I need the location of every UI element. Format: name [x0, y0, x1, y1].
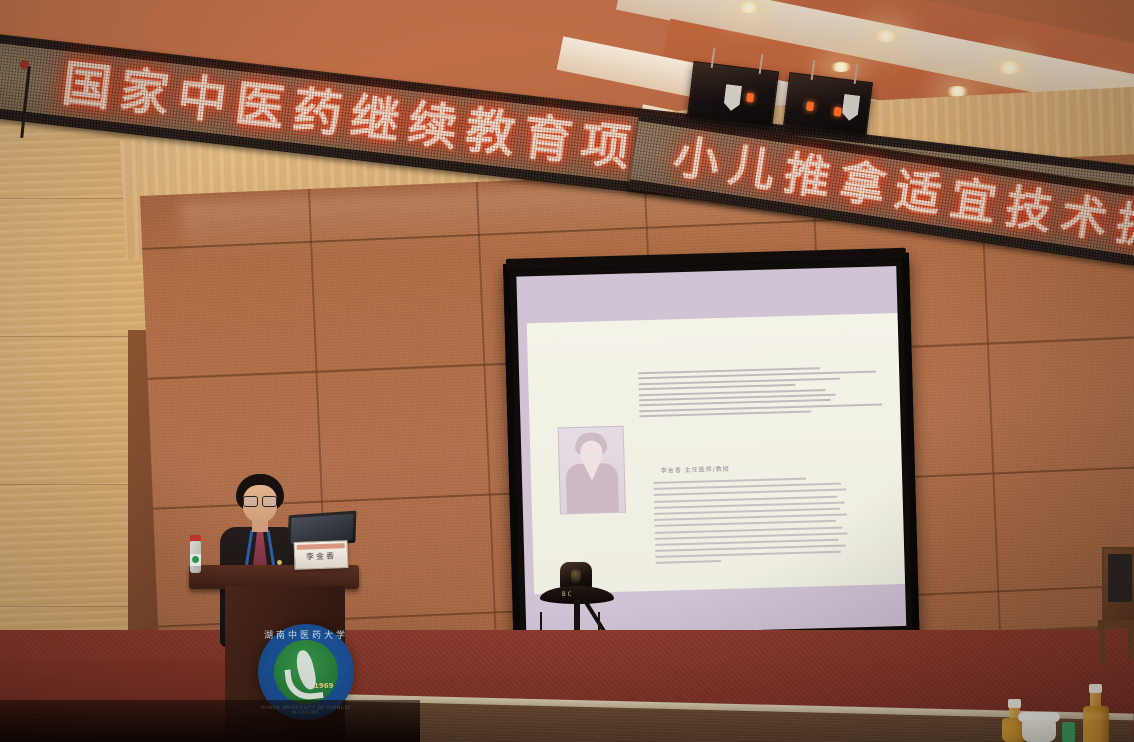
slide-portrait-photo — [558, 426, 626, 515]
name-card-accent — [297, 543, 345, 550]
pa-indicator-led — [834, 107, 842, 117]
emblem-year: 1969 — [314, 682, 333, 690]
pa-hanging-label — [841, 94, 860, 122]
foreground-green-item — [1062, 722, 1075, 742]
camera-brand-label: BC — [562, 591, 573, 598]
foreground-bottle — [1083, 706, 1109, 742]
pa-speaker-left — [687, 61, 779, 127]
bottle-cap — [1008, 699, 1021, 708]
ceiling-downlight — [996, 61, 1023, 74]
bottle-cap — [1089, 684, 1102, 693]
ceiling-downlight — [830, 62, 852, 72]
chair-backrest — [1102, 547, 1134, 627]
name-card-text: 李金香 — [295, 550, 347, 563]
ceiling-downlight — [873, 30, 899, 42]
slide-credential-list — [638, 365, 892, 421]
foreground-shadow — [0, 700, 420, 742]
emblem-center: 1969 — [274, 640, 338, 704]
slide-speaker-name: 李金香 主任医师/教授 — [661, 464, 730, 475]
chair-leg — [1100, 628, 1105, 664]
slide-bio-paragraph — [653, 476, 874, 569]
ceiling-downlight — [737, 2, 761, 13]
chair-padding — [1108, 554, 1132, 602]
slide-content-area: 李金香 主任医师/教授 — [527, 313, 905, 594]
pa-speaker-right — [783, 72, 873, 136]
pa-indicator-led — [746, 93, 754, 103]
microphone-head-icon — [20, 60, 29, 69]
eyeglasses-icon — [243, 496, 277, 505]
pa-indicator-led — [806, 101, 814, 111]
pa-hanging-label — [723, 84, 742, 112]
foreground-cup — [1022, 720, 1056, 742]
podium-name-card: 李金香 — [294, 540, 349, 570]
chair-leg — [1128, 628, 1133, 660]
lecture-hall-photo: 国家中医药继续教育项目—— 小儿推拿适宜技术提高培训 — [0, 0, 1134, 742]
bottle-label — [190, 554, 201, 566]
camera-lens-icon — [571, 569, 581, 583]
